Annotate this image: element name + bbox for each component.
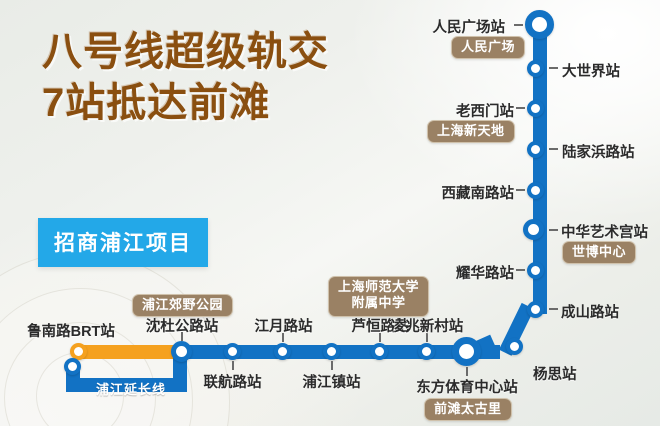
leader-tick-xizangnanlu [516, 189, 525, 191]
station-label-xizangnanlu: 西藏南路站 [354, 182, 514, 203]
station-label-yangsi: 杨思站 [533, 363, 577, 384]
station-dot-branch-terminus[interactable] [64, 358, 81, 375]
station-label-dongfangtiyuzhongxin: 东方体育中心站 [404, 376, 530, 397]
leader-tick-zhonghuayishugong [549, 229, 558, 231]
leader-tick-yaohualu [516, 269, 525, 271]
station-dot-lujiabang[interactable] [527, 141, 544, 158]
station-dot-shendugonglu[interactable] [171, 341, 192, 362]
station-dot-zhonghuayishugong[interactable] [523, 219, 544, 240]
headline-line-1: 八号线超级轨交 [42, 30, 329, 75]
station-dot-chengshanlu[interactable] [527, 301, 544, 318]
station-dot-pujiangzhen[interactable] [323, 343, 340, 360]
station-dot-yangsi[interactable] [506, 338, 523, 355]
page-title: 八号线超级轨交 7站抵达前滩 [42, 30, 329, 126]
decorative-arc [580, 0, 660, 104]
station-dot-hluhenglu[interactable] [371, 343, 388, 360]
station-dot-xizangnanlu[interactable] [527, 182, 544, 199]
station-label-jiangyuelu: 江月路站 [231, 315, 336, 336]
station-tag-luhenglu-line-2: 附属中学 [352, 295, 406, 310]
leader-tick-dashijie [549, 67, 558, 69]
project-badge[interactable]: 招商浦江项目 [38, 218, 208, 267]
station-dot-dongfangtiyuzhongxin[interactable] [452, 337, 481, 366]
station-label-lujiabang: 陆家浜路站 [562, 141, 635, 162]
station-dot-lianhanglu[interactable] [224, 343, 241, 360]
station-tag-zhonghuayishugong: 世博中心 [562, 241, 636, 264]
station-tag-dongfangtiyuzhongxin: 前滩太古里 [424, 398, 512, 421]
station-label-chengshanlu: 成山路站 [561, 301, 619, 322]
leader-tick-lujiabang [549, 148, 558, 150]
station-dot-yaohualu[interactable] [527, 262, 544, 279]
leader-tick-pujiangzhen [331, 361, 333, 370]
station-label-lingzhaoxincun: 凌兆新村站 [368, 315, 486, 336]
station-label-pujiangzhen: 浦江镇站 [279, 371, 384, 392]
station-dot-renminguangchang[interactable] [525, 10, 554, 39]
leader-tick-laoximen [516, 107, 525, 109]
station-dot-dashijie[interactable] [527, 60, 544, 77]
station-label-dashijie: 大世界站 [562, 60, 620, 81]
station-dot-laoximen[interactable] [527, 100, 544, 117]
station-tag-luhenglu-line-1: 上海师范大学 [338, 279, 419, 294]
station-label-lianhanglu: 联航路站 [180, 371, 285, 392]
station-tag-luhenglu: 上海师范大学 附属中学 [328, 276, 429, 317]
station-dot-lingzhaoxincun[interactable] [418, 343, 435, 360]
leader-tick-chengshanlu [549, 308, 558, 310]
station-label-zhonghuayishugong: 中华艺术宫站 [561, 221, 648, 242]
leader-tick-dongfangtiyuzhongxin [466, 367, 468, 376]
station-label-renminguangchang: 人民广场站 [345, 16, 505, 37]
station-dot-jiangyuelu[interactable] [274, 343, 291, 360]
station-tag-laoximen: 上海新天地 [427, 120, 515, 143]
leader-tick-renminguangchang [514, 24, 523, 26]
station-tag-shendugonglu: 浦江郊野公园 [132, 294, 233, 317]
branch-line-label: 浦江延长线 [96, 379, 166, 398]
station-label-laoximen: 老西门站 [354, 100, 514, 121]
leader-tick-lianhanglu [232, 361, 234, 370]
station-tag-renminguangchang: 人民广场 [451, 36, 525, 59]
poster-canvas: 八号线超级轨交 7站抵达前滩 招商浦江项目 浦江延长线 人民广场站 人民广场 大… [0, 0, 660, 426]
station-label-shendugonglu: 沈杜公路站 [117, 315, 247, 336]
headline-line-2: 7站抵达前滩 [42, 81, 329, 126]
station-label-lunanlu-brt: 鲁南路BRT站 [8, 320, 134, 341]
